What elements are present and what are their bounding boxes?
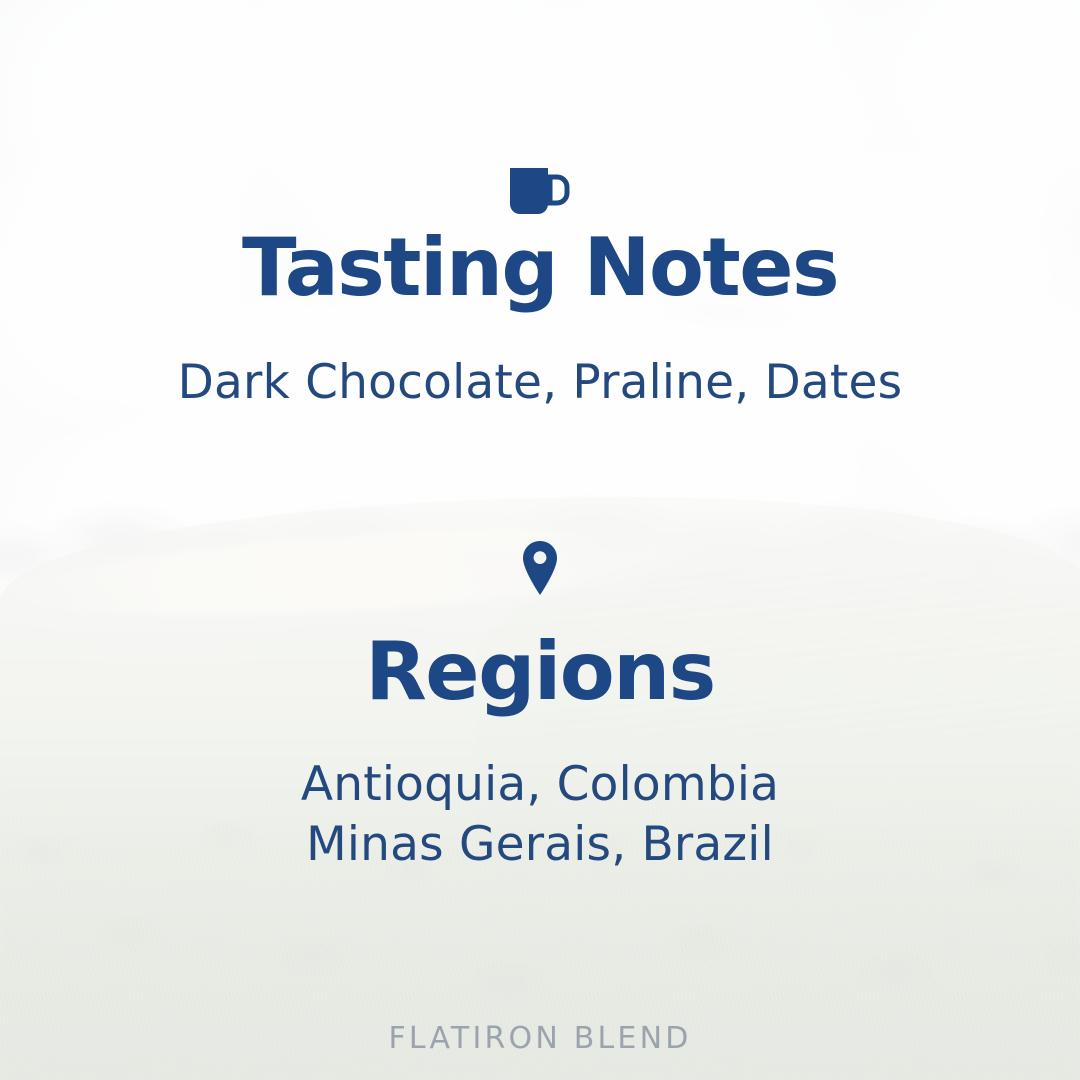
regions-heading: Regions xyxy=(0,632,1080,712)
regions-values: Antioquia, Colombia Minas Gerais, Brazil xyxy=(0,755,1080,875)
blend-name-footer: FLATIRON BLEND xyxy=(0,1021,1080,1056)
tasting-notes-heading: Tasting Notes xyxy=(0,228,1080,308)
map-pin-icon xyxy=(0,540,1080,596)
product-card: Tasting Notes Dark Chocolate, Praline, D… xyxy=(0,0,1080,1080)
page-title: Tasting Notes xyxy=(0,228,1080,308)
card-content: Tasting Notes Dark Chocolate, Praline, D… xyxy=(0,0,1080,1080)
coffee-mug-icon xyxy=(0,166,1080,218)
tasting-notes-values: Dark Chocolate, Praline, Dates xyxy=(0,353,1080,413)
tasting-notes-list: Dark Chocolate, Praline, Dates xyxy=(0,353,1080,413)
region-line-2: Minas Gerais, Brazil xyxy=(0,815,1080,875)
section-title: Regions xyxy=(0,632,1080,712)
region-line-1: Antioquia, Colombia xyxy=(0,755,1080,815)
